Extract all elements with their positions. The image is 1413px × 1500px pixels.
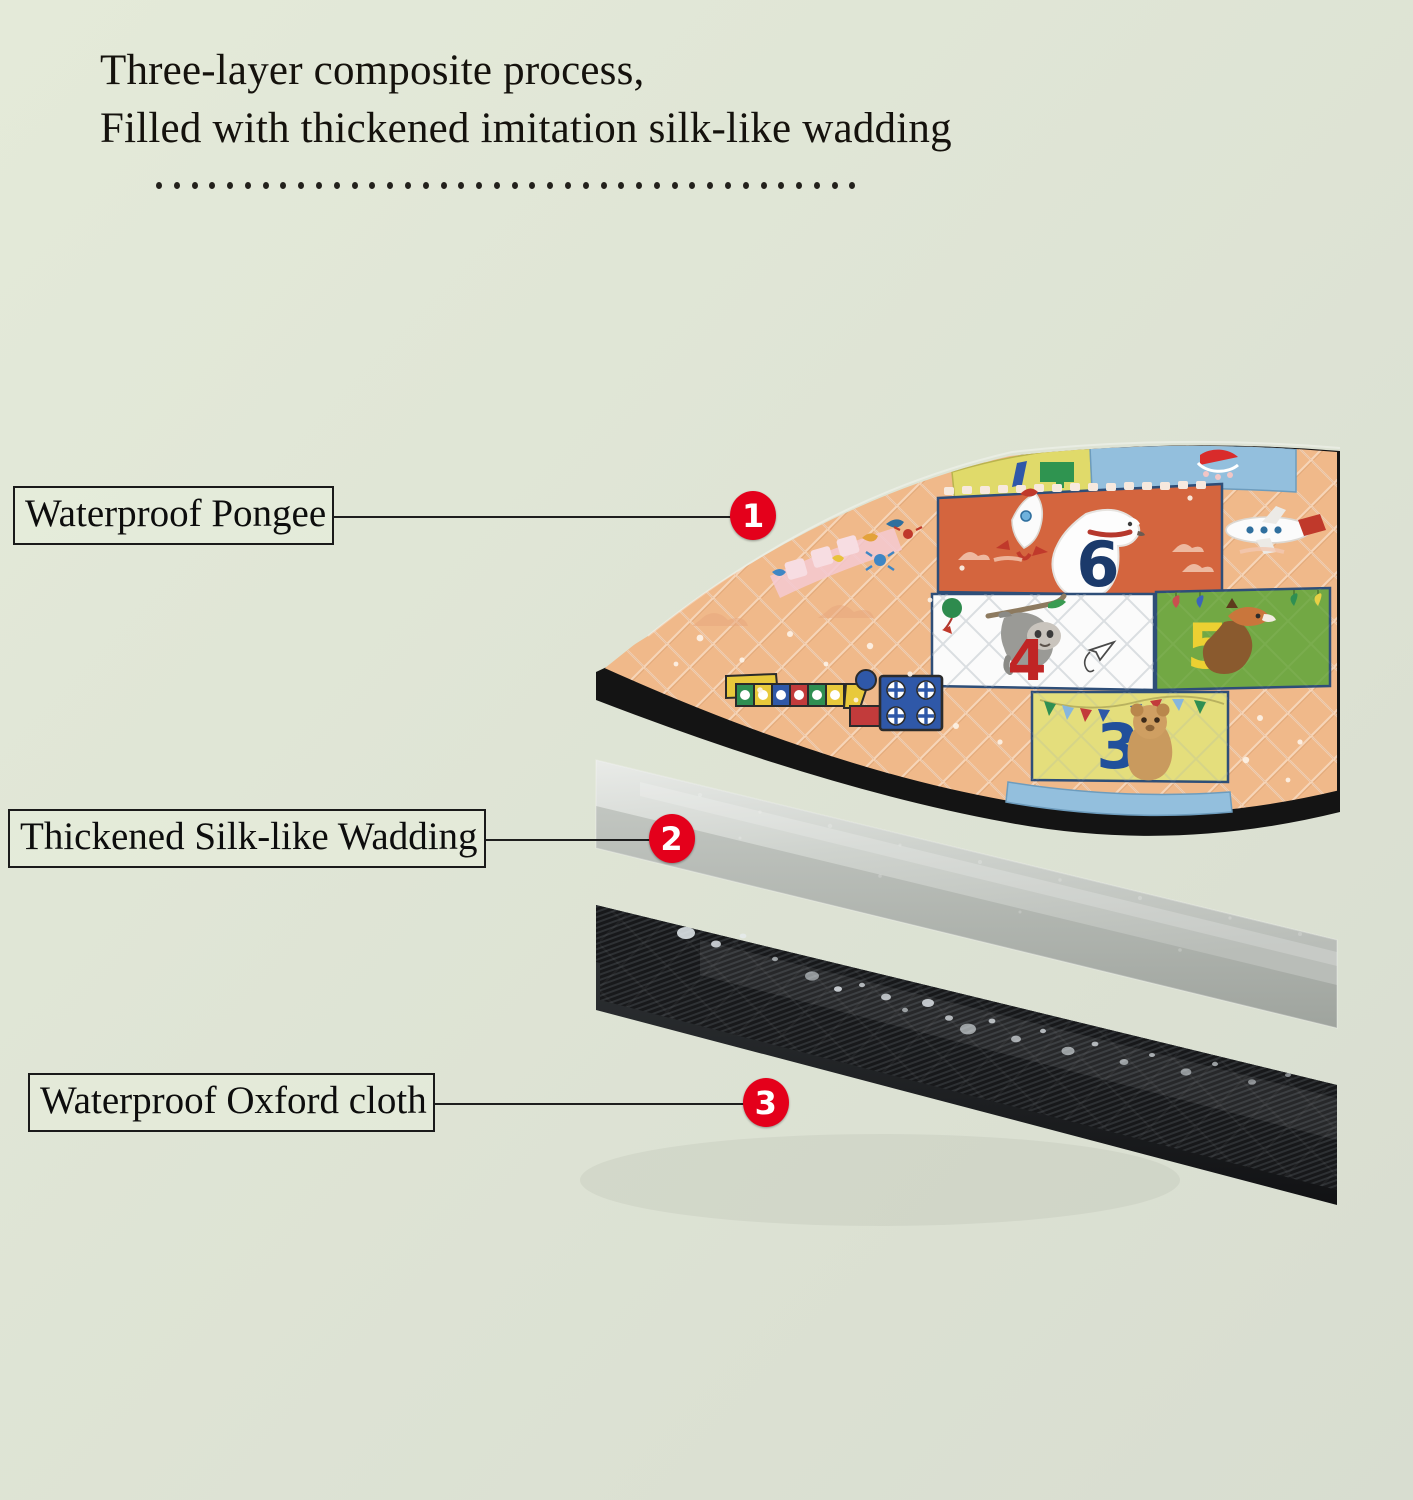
callout-3-leader-line <box>435 1103 745 1105</box>
title-line-1: Three-layer composite process, <box>100 42 1220 100</box>
divider-dot <box>280 182 286 189</box>
badge-1[interactable]: 1 <box>730 491 776 540</box>
divider-dot <box>441 182 447 189</box>
panel-6-polar-bear: 6 <box>938 481 1222 601</box>
divider-dot <box>814 182 820 189</box>
callout-2-label: Thickened Silk-like Wadding <box>8 809 486 868</box>
svg-text:4: 4 <box>1008 629 1047 694</box>
layer-stack-illustration: 6 <box>0 0 1413 1500</box>
divider-dot <box>405 182 411 189</box>
callout-1-label: Waterproof Pongee <box>13 486 334 545</box>
divider-dot <box>369 182 375 189</box>
callout-3-label: Waterproof Oxford cloth <box>28 1073 435 1132</box>
callout-waterproof-pongee[interactable]: Waterproof Pongee 1 <box>13 486 776 545</box>
divider-dot <box>529 182 535 189</box>
divider-dot <box>743 182 749 189</box>
divider-dot <box>707 182 713 189</box>
divider-dot <box>636 182 642 189</box>
panel-3-bear: 3 <box>1032 692 1228 783</box>
divider-dot <box>761 182 767 189</box>
divider-dot <box>796 182 802 189</box>
divider-dot <box>512 182 518 189</box>
badge-3[interactable]: 3 <box>743 1078 789 1127</box>
divider-dot <box>494 182 500 189</box>
divider-dot <box>725 182 731 189</box>
divider-dot <box>618 182 624 189</box>
divider-dot <box>565 182 571 189</box>
title-line-2: Filled with thickened imitation silk-lik… <box>100 100 1220 158</box>
divider-dot <box>352 182 358 189</box>
divider-dot <box>601 182 607 189</box>
divider-dot <box>547 182 553 189</box>
divider-dot <box>583 182 589 189</box>
callout-2-leader-line <box>486 839 651 841</box>
callout-1-leader-line <box>334 516 732 518</box>
divider-dot <box>263 182 269 189</box>
infographic-canvas: 6 <box>0 0 1413 1500</box>
divider-dot <box>654 182 660 189</box>
callout-waterproof-oxford-cloth[interactable]: Waterproof Oxford cloth 3 <box>28 1073 789 1132</box>
badge-2[interactable]: 2 <box>649 814 695 863</box>
divider-dot <box>245 182 251 189</box>
divider-dot <box>298 182 304 189</box>
callout-thickened-silk-like-wadding[interactable]: Thickened Silk-like Wadding 2 <box>8 809 695 868</box>
divider-dot <box>387 182 393 189</box>
panel-4-sloth: 4 <box>932 594 1154 694</box>
divider-dot <box>227 182 233 189</box>
divider-dot <box>423 182 429 189</box>
panel-5-fox: 5 <box>1156 588 1330 690</box>
divider-dot <box>209 182 215 189</box>
divider-dot <box>849 182 855 189</box>
divider-dot <box>334 182 340 189</box>
divider-dot <box>672 182 678 189</box>
divider-dot <box>458 182 464 189</box>
svg-text:6: 6 <box>1076 528 1119 601</box>
divider-dot <box>316 182 322 189</box>
divider-dot <box>476 182 482 189</box>
divider-dot <box>778 182 784 189</box>
page-title: Three-layer composite process, Filled wi… <box>100 42 1220 158</box>
divider-dot <box>832 182 838 189</box>
dotted-divider <box>156 178 856 192</box>
divider-dot <box>174 182 180 189</box>
divider-dot <box>689 182 695 189</box>
divider-dot <box>156 182 162 189</box>
divider-dot <box>192 182 198 189</box>
